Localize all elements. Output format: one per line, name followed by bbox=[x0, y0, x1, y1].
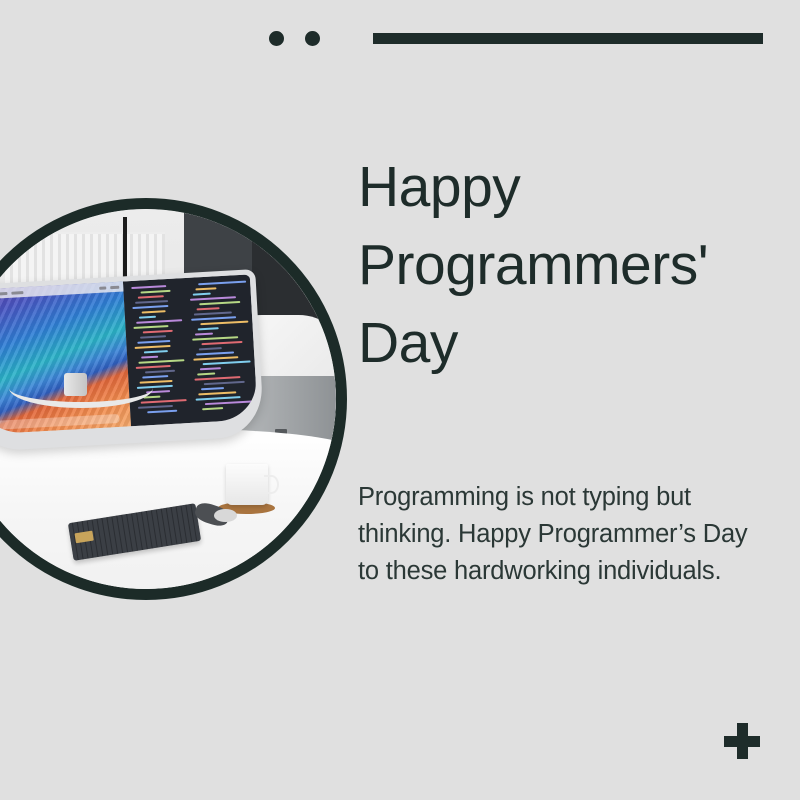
pipe-right bbox=[123, 217, 127, 285]
code-line bbox=[132, 305, 169, 309]
code-line bbox=[194, 312, 232, 316]
dot-icon-2 bbox=[305, 31, 320, 46]
code-line bbox=[200, 367, 220, 370]
poster-canvas: Happy Programmers' Day Programming is no… bbox=[0, 0, 800, 800]
code-line bbox=[139, 380, 173, 384]
code-line bbox=[190, 296, 236, 301]
code-line bbox=[197, 373, 215, 376]
code-line bbox=[203, 381, 244, 385]
code-line bbox=[194, 376, 240, 381]
code-line bbox=[142, 375, 168, 378]
code-line bbox=[144, 370, 175, 374]
code-line bbox=[197, 327, 217, 330]
code-line bbox=[135, 319, 182, 324]
code-line bbox=[139, 335, 165, 338]
monitor-screen bbox=[0, 275, 257, 436]
page-title: Happy Programmers' Day bbox=[358, 148, 768, 382]
circular-photo-frame bbox=[0, 198, 347, 600]
code-editor-pane bbox=[123, 275, 258, 427]
dot-icon-1 bbox=[269, 31, 284, 46]
code-line bbox=[130, 285, 166, 289]
code-line bbox=[134, 300, 168, 304]
mug-handle bbox=[264, 475, 279, 494]
code-line bbox=[201, 387, 223, 390]
code-line bbox=[198, 347, 220, 350]
code-line bbox=[199, 301, 240, 305]
code-line bbox=[140, 290, 171, 294]
ultrawide-monitor bbox=[0, 277, 260, 444]
code-line bbox=[140, 356, 157, 359]
decorative-dots bbox=[269, 31, 320, 46]
desk-plant bbox=[0, 460, 24, 536]
code-line bbox=[195, 396, 240, 400]
code-line bbox=[198, 281, 246, 286]
code-line bbox=[137, 340, 171, 344]
workspace-photo bbox=[0, 209, 336, 589]
code-line bbox=[134, 345, 171, 349]
code-line bbox=[137, 405, 173, 409]
background-wall-dark-2 bbox=[252, 209, 336, 323]
code-line bbox=[192, 293, 210, 296]
wallpaper-pane bbox=[0, 282, 131, 436]
code-line bbox=[138, 316, 155, 319]
code-line bbox=[196, 352, 234, 356]
code-line bbox=[142, 330, 173, 334]
body-message: Programming is not typing but thinking. … bbox=[358, 479, 748, 590]
code-line bbox=[202, 361, 250, 366]
code-line bbox=[192, 336, 238, 341]
code-line bbox=[140, 399, 187, 404]
code-line bbox=[205, 401, 253, 406]
code-line bbox=[133, 325, 169, 329]
code-line bbox=[137, 295, 163, 298]
code-line bbox=[200, 321, 248, 326]
plus-icon bbox=[724, 723, 760, 759]
code-column-right bbox=[189, 281, 247, 414]
menubar-item bbox=[11, 291, 23, 295]
code-line bbox=[202, 407, 222, 410]
code-line bbox=[147, 410, 178, 414]
code-line bbox=[143, 350, 167, 353]
code-line bbox=[198, 392, 236, 396]
keyboard-accent-key bbox=[75, 531, 94, 544]
coffee-mug bbox=[226, 464, 268, 506]
code-line bbox=[195, 333, 213, 336]
plus-icon-vertical bbox=[737, 723, 748, 759]
code-line bbox=[141, 310, 165, 313]
code-line bbox=[195, 288, 215, 291]
code-line bbox=[193, 356, 238, 360]
code-line bbox=[138, 359, 185, 364]
menubar-item bbox=[0, 292, 7, 295]
photo-scene bbox=[0, 209, 336, 589]
code-line bbox=[191, 316, 236, 320]
code-line bbox=[135, 365, 171, 369]
menubar-status-icon bbox=[99, 286, 106, 289]
menubar-clock bbox=[110, 286, 119, 289]
code-line bbox=[196, 307, 218, 310]
decorative-bar bbox=[373, 33, 763, 44]
code-line bbox=[201, 341, 242, 345]
